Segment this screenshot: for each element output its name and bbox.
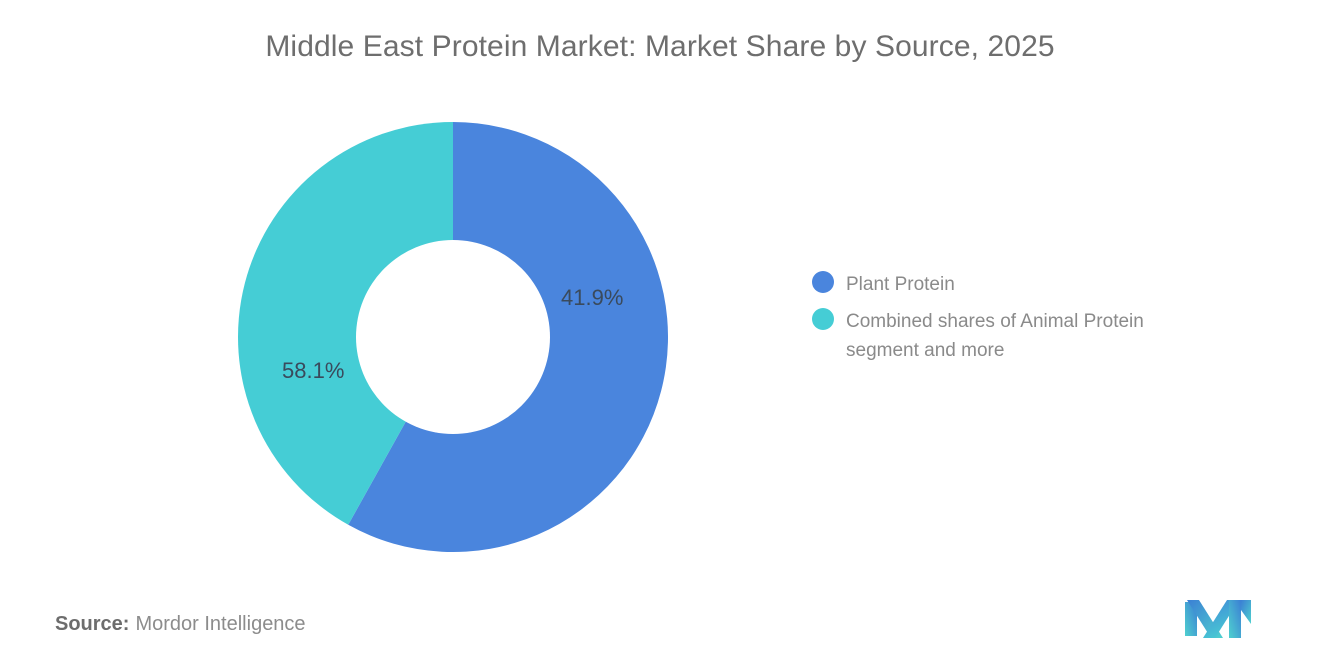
legend-label-other-protein: Combined shares of Animal Protein segmen… — [846, 307, 1216, 365]
legend-swatch-icon — [812, 271, 834, 293]
legend-item-plant-protein[interactable]: Plant Protein — [812, 270, 1232, 299]
donut-chart — [238, 122, 668, 552]
chart-title: Middle East Protein Market: Market Share… — [0, 30, 1320, 64]
legend-swatch-icon — [812, 308, 834, 330]
mordor-intelligence-logo — [1183, 598, 1253, 640]
legend-item-other-protein[interactable]: Combined shares of Animal Protein segmen… — [812, 307, 1232, 365]
slice-label-other-protein: 41.9% — [561, 285, 623, 311]
chart-legend: Plant Protein Combined shares of Animal … — [812, 270, 1232, 373]
legend-label-plant-protein: Plant Protein — [846, 270, 955, 299]
donut-hole — [356, 240, 550, 434]
logo-stroke-stem — [1229, 600, 1241, 638]
donut-chart-svg — [238, 122, 668, 552]
slice-label-plant-protein: 58.1% — [282, 358, 344, 384]
source-value: Mordor Intelligence — [135, 613, 305, 635]
source-label: Source: — [55, 613, 129, 635]
logo-stroke-cap — [1241, 600, 1251, 624]
source-line: Source:Mordor Intelligence — [55, 613, 306, 636]
